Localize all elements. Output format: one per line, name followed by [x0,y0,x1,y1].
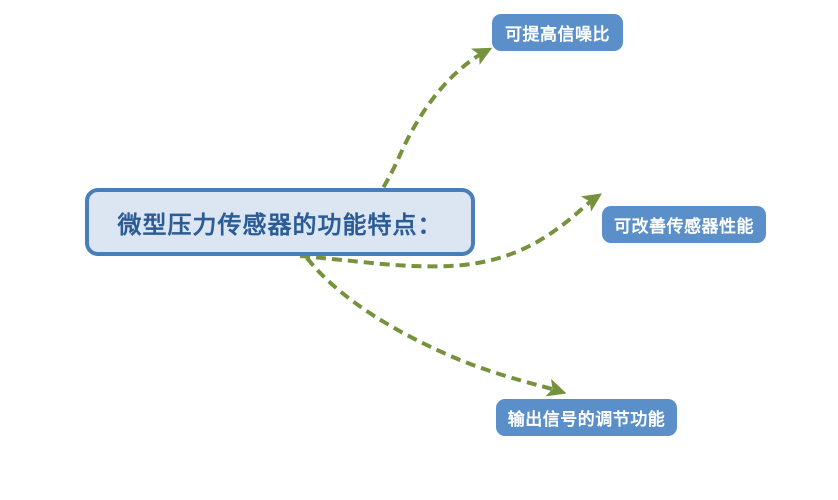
root-node-label: 微型压力传感器的功能特点： [118,205,443,240]
child-node-3-label: 输出信号的调节功能 [508,405,666,430]
mindmap-canvas: 微型压力传感器的功能特点： 可提高信噪比 可改善传感器性能 输出信号的调节功能 [0,0,838,500]
connector-root-to-child-3 [307,258,562,392]
child-node-2[interactable]: 可改善传感器性能 [602,206,766,243]
child-node-2-label: 可改善传感器性能 [614,212,754,237]
child-node-1-label: 可提高信噪比 [505,20,610,45]
child-node-1[interactable]: 可提高信噪比 [492,14,623,51]
root-node[interactable]: 微型压力传感器的功能特点： [85,188,475,256]
child-node-3[interactable]: 输出信号的调节功能 [496,399,677,436]
